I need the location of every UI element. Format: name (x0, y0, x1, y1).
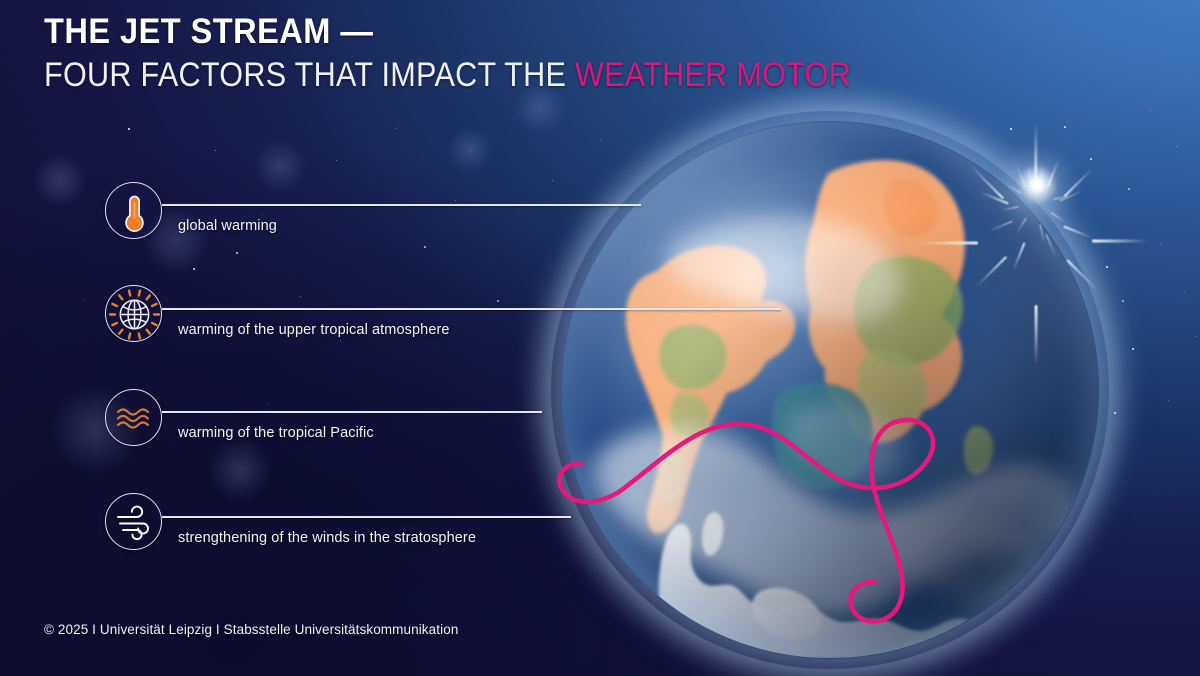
jet-stream-path (519, 79, 1141, 676)
wind-icon (106, 494, 163, 551)
title-line-2-text: FOUR FACTORS THAT IMPACT THE (44, 56, 575, 94)
star (497, 300, 499, 302)
star (193, 268, 195, 270)
factor-icon-circle[interactable] (105, 285, 162, 342)
nebula-glow (245, 131, 315, 201)
factor-leader-line (162, 516, 571, 518)
factor-label: global warming (178, 218, 277, 234)
star (128, 128, 130, 130)
thermometer-icon (106, 183, 163, 240)
globe-grid-icon (106, 286, 163, 343)
factor-icon-circle[interactable] (105, 182, 162, 239)
factor-label: strengthening of the winds in the strato… (178, 530, 476, 546)
title-accent-text: WEATHER MOTOR (575, 56, 851, 94)
factor-label: warming of the upper tropical atmosphere (178, 322, 450, 338)
waves-icon (106, 390, 163, 447)
copyright-footer: © 2025 I Universität Leipzig I Stabsstel… (44, 622, 458, 637)
earth-globe (519, 79, 1141, 676)
nebula-glow (23, 143, 97, 217)
title-line-2: FOUR FACTORS THAT IMPACT THE WEATHER MOT… (44, 56, 851, 95)
factor-leader-line (162, 204, 641, 206)
title-line-1: THE JET STREAM — (44, 14, 878, 51)
page-title: THE JET STREAM — FOUR FACTORS THAT IMPAC… (44, 14, 941, 95)
factor-label: warming of the tropical Pacific (178, 425, 374, 441)
factor-icon-circle[interactable] (105, 493, 162, 550)
star (424, 246, 426, 248)
factor-leader-line (162, 411, 542, 413)
infographic-canvas: THE JET STREAM — FOUR FACTORS THAT IMPAC… (0, 0, 1200, 676)
star (236, 252, 238, 254)
factor-leader-line (162, 308, 781, 310)
factor-icon-circle[interactable] (105, 389, 162, 446)
